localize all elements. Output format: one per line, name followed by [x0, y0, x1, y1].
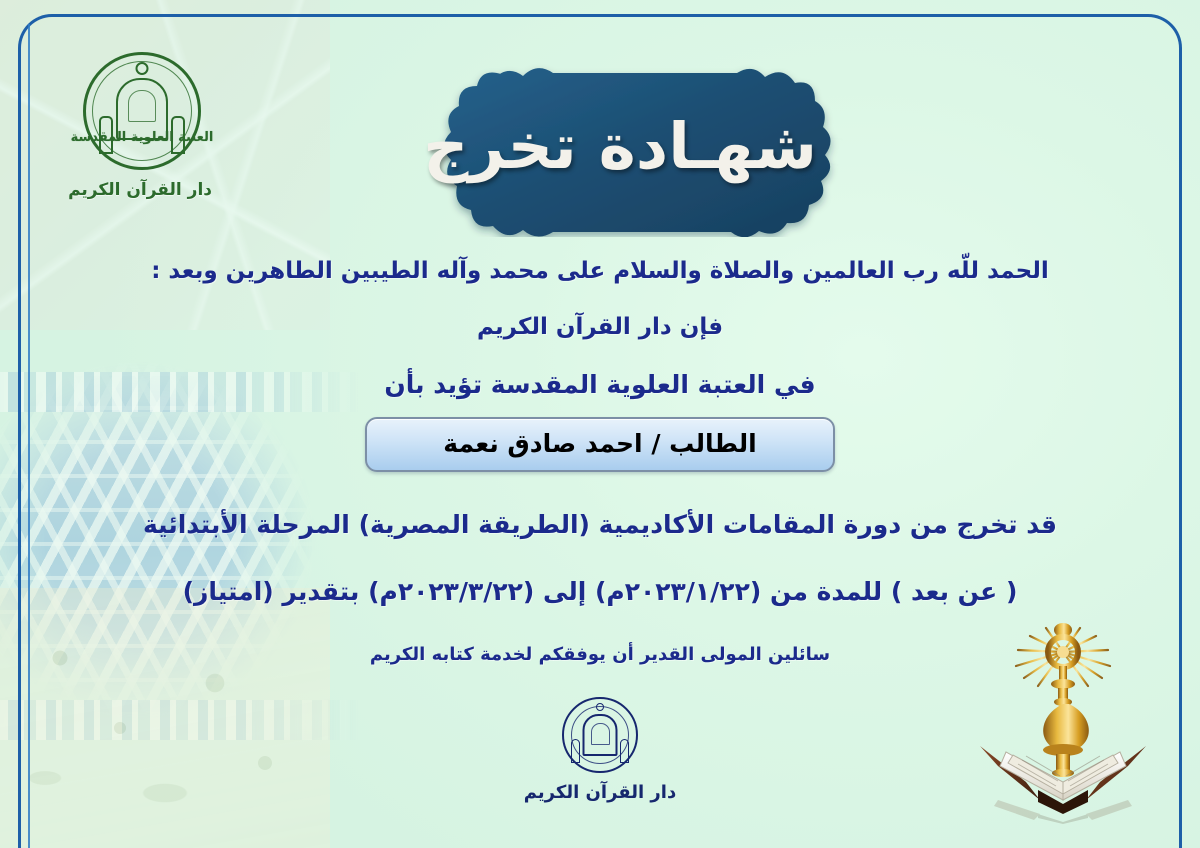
certificate-page: العتبة العلوية المقدسة دار القرآن الكريم… [0, 0, 1200, 848]
quran-on-rehal-with-gold-finial-icon [968, 614, 1158, 824]
body-line-dates-grade: ( عن بعد ) للمدة من (٢٠٢٣/١/٢٢م) إلى (٢٠… [0, 577, 1200, 606]
institution-logo-arc-text: العتبة العلوية المقدسة [67, 130, 217, 176]
title-banner: شهـادة تخرج [385, 62, 855, 237]
student-name-row: الطالب / احمد صادق نعمة [0, 417, 1200, 472]
institution-logo: العتبة العلوية المقدسة دار القرآن الكريم [72, 52, 212, 232]
student-name-field[interactable]: الطالب / احمد صادق نعمة [365, 417, 835, 472]
institution-seal-icon [562, 697, 638, 773]
footer-seal-caption: دار القرآن الكريم [500, 782, 700, 803]
body-line-shrine: في العتبة العلوية المقدسة تؤيد بأن [0, 370, 1200, 399]
certificate-title: شهـادة تخرج [385, 62, 855, 237]
institution-logo-caption: دار القرآن الكريم [72, 180, 212, 200]
body-line-praise: الحمد للّه رب العالمين والصلاة والسلام ع… [0, 258, 1200, 284]
body-line-institution: فإن دار القرآن الكريم [0, 314, 1200, 340]
body-line-course: قد تخرج من دورة المقامات الأكاديمية (الط… [0, 510, 1200, 539]
certificate-body: الحمد للّه رب العالمين والصلاة والسلام ع… [0, 258, 1200, 665]
footer-seal: دار القرآن الكريم [500, 697, 700, 803]
